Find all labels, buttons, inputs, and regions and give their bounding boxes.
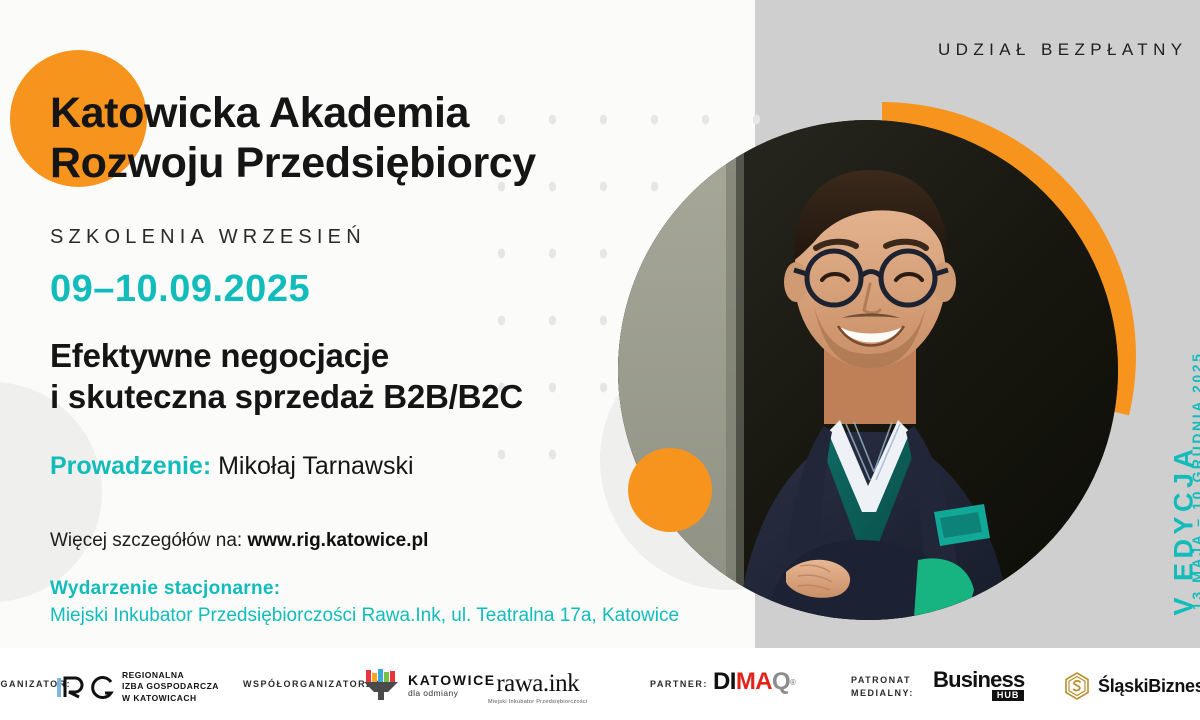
free-participation-note: UDZIAŁ BEZPŁATNY <box>938 40 1188 60</box>
business-hub-name: Business <box>933 670 1024 690</box>
kicker-label: SZKOLENIA WRZESIEŃ <box>50 226 366 249</box>
rawaink-subtitle: Miejski Inkubator Przedsiębiorczości <box>488 699 587 705</box>
katowice-text: KATOWICE dla odmiany <box>408 672 496 698</box>
trainer-name: Mikołaj Tarnawski <box>218 452 413 480</box>
slaskibiznes-name: ŚląskiBiznes. <box>1098 676 1200 697</box>
more-info-label: Więcej szczegółów na: <box>50 530 242 551</box>
rig-line-1: REGIONALNA <box>122 670 219 681</box>
media-patron-label-line-2: MEDIALNY: <box>851 687 914 700</box>
media-patron-label-line-1: PATRONAT <box>851 674 914 687</box>
rig-line-3: W KATOWICACH <box>122 693 219 704</box>
headline-line-1: Katowicka Akademia <box>50 88 650 138</box>
slaskibiznes-hexagon-icon <box>1063 672 1091 700</box>
edition-block: V EDYCJA 13 MAJA – 10 GRUDNIA 2025 <box>1155 300 1199 620</box>
page-title: Katowicka Akademia Rozwoju Przedsiębiorc… <box>50 88 650 189</box>
venue-label: Wydarzenie stacjonarne: <box>50 576 750 603</box>
dimaq-registered-mark: ® <box>790 678 795 687</box>
more-info-row: Więcej szczegółów na: www.rig.katowice.p… <box>50 530 428 552</box>
logo-katowice[interactable]: KATOWICE dla odmiany <box>362 668 496 702</box>
dimaq-part-2: MA <box>736 668 772 696</box>
business-hub-sub: HUB <box>992 690 1025 700</box>
rig-text: REGIONALNA IZBA GOSPODARCZA W KATOWICACH <box>122 670 219 704</box>
edition-daterange: 13 MAJA – 10 GRUDNIA 2025 <box>1189 290 1200 610</box>
main-content: Katowicka Akademia Rozwoju Przedsiębiorc… <box>0 0 760 648</box>
logo-slaskibiznes[interactable]: ŚląskiBiznes. <box>1063 672 1200 700</box>
topic-line-2: i skuteczna sprzedaż B2B/B2C <box>50 377 670 418</box>
katowice-mark-icon <box>362 668 400 702</box>
dimaq-part-3: Q <box>772 668 790 696</box>
event-dates: 09–10.09.2025 <box>50 268 310 311</box>
trainer-row: Prowadzenie: Mikołaj Tarnawski <box>50 452 414 481</box>
event-banner: Katowicka Akademia Rozwoju Przedsiębiorc… <box>0 0 1200 720</box>
media-patron-label-wrap: PATRONAT MEDIALNY: <box>851 674 914 699</box>
logo-dimaq[interactable]: DIMAQ® <box>713 668 795 696</box>
headline-line-2: Rozwoju Przedsiębiorcy <box>50 138 650 188</box>
logo-rig[interactable]: REGIONALNA IZBA GOSPODARCZA W KATOWICACH <box>55 670 219 704</box>
partner-label-wrap: PARTNER: <box>650 679 708 689</box>
venue-address: Miejski Inkubator Przedsiębiorczości Raw… <box>50 603 750 630</box>
trainer-label: Prowadzenie: <box>50 452 211 480</box>
katowice-tagline: dla odmiany <box>408 688 496 698</box>
event-topic: Efektywne negocjacje i skuteczna sprzeda… <box>50 336 670 417</box>
logo-business-hub[interactable]: Business HUB <box>933 670 1024 701</box>
rig-line-2: IZBA GOSPODARCZA <box>122 681 219 692</box>
rawaink-name: rawa.ink <box>496 670 579 698</box>
rig-mark-icon <box>55 673 115 701</box>
logo-rawaink[interactable]: rawa.ink Miejski Inkubator Przedsiębiorc… <box>488 670 587 705</box>
katowice-name: KATOWICE <box>408 672 496 688</box>
topic-line-1: Efektywne negocjacje <box>50 336 670 377</box>
partner-label: PARTNER: <box>650 679 708 689</box>
partners-footer: ORGANIZATOR: REGIONALNA IZBA GOSPODARCZA… <box>0 648 1200 720</box>
dimaq-part-1: DI <box>713 668 736 696</box>
venue-block: Wydarzenie stacjonarne: Miejski Inkubato… <box>50 576 750 630</box>
website-link[interactable]: www.rig.katowice.pl <box>247 530 428 551</box>
